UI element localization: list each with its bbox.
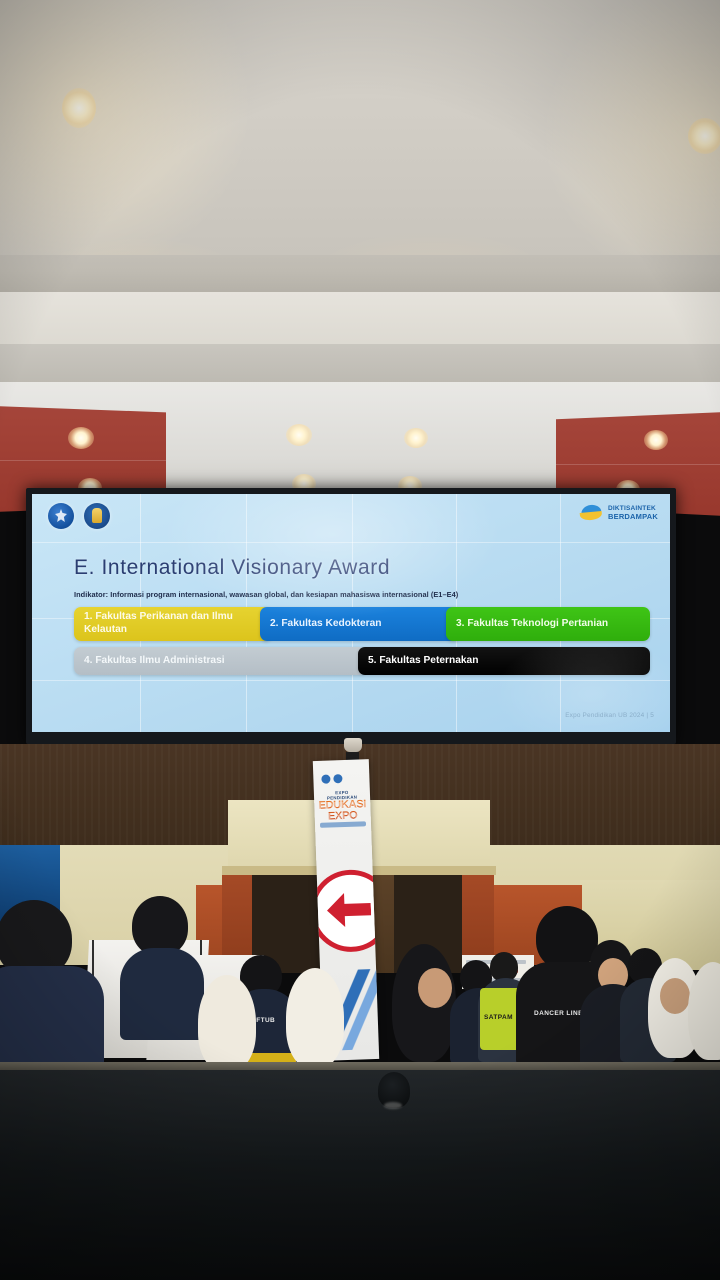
faculty-box-3: 3. Fakultas Teknologi Pertanian xyxy=(446,607,650,641)
faculty-label-5: 5. Fakultas Peternakan xyxy=(368,655,478,668)
downlight-icon xyxy=(62,88,96,128)
screen-tile-seam xyxy=(32,542,670,543)
jacket-label-satpam: SATPAM xyxy=(484,1014,513,1021)
ceiling-band-upper xyxy=(0,255,720,295)
foreground-object xyxy=(378,1072,410,1108)
jacket-label-dancer-line: DANCER LINE xyxy=(534,1010,583,1017)
foreground-silhouette xyxy=(0,1070,720,1280)
person-hijab xyxy=(198,975,256,1071)
person-head xyxy=(536,906,598,970)
slide-surface: DIKTISAINTEK BERDAMPAK E. International … xyxy=(32,494,670,732)
slide-footer: Expo Pendidikan UB 2024 | 5 xyxy=(565,712,654,719)
downlight-icon xyxy=(644,430,668,450)
faculty-box-4: 4. Fakultas Ilmu Administrasi xyxy=(74,647,366,675)
diktisaintek-logo: DIKTISAINTEK BERDAMPAK xyxy=(580,504,658,522)
faculty-label-1: 1. Fakultas Perikanan dan Ilmu Kelautan xyxy=(84,611,262,637)
left-arrow-icon xyxy=(313,868,379,953)
faculty-box-1: 1. Fakultas Perikanan dan Ilmu Kelautan xyxy=(74,607,272,641)
diktisaintek-logo-line2: BERDAMPAK xyxy=(608,513,658,521)
banner-logo-row xyxy=(321,774,342,784)
ceiling-band-lower xyxy=(0,344,720,386)
person-body xyxy=(0,966,104,1076)
person-hijab xyxy=(286,968,344,1068)
ceiling-band-middle xyxy=(0,292,720,348)
auditorium-photo: DIKTISAINTEK BERDAMPAK E. International … xyxy=(0,0,720,1280)
banner-title: EDUKASI EXPO xyxy=(317,799,368,823)
downlight-icon xyxy=(286,424,312,446)
faculty-label-3: 3. Fakultas Teknologi Pertanian xyxy=(456,618,608,631)
faculty-box-2: 2. Fakultas Kedokteran xyxy=(260,607,460,641)
person-head xyxy=(132,896,188,956)
ceiling-projector xyxy=(344,738,362,752)
slide-title: E. International Visionary Award xyxy=(74,556,390,580)
slide-indicator-text: Indikator: Informasi program internasion… xyxy=(74,590,458,599)
faculty-label-4: 4. Fakultas Ilmu Administrasi xyxy=(84,655,225,668)
faculty-box-5: 5. Fakultas Peternakan xyxy=(358,647,650,675)
ceiling-upper-slab xyxy=(0,0,720,258)
person-body xyxy=(120,948,204,1040)
universitas-brawijaya-logo-icon xyxy=(84,503,110,529)
kemdikbud-logo-icon xyxy=(48,503,74,529)
person-face xyxy=(418,968,452,1008)
downlight-icon xyxy=(404,428,428,448)
diktisaintek-bird-icon xyxy=(580,504,604,522)
banner-divider xyxy=(320,821,366,828)
downlight-icon xyxy=(68,427,94,449)
downlight-icon xyxy=(688,118,720,154)
faculty-label-2: 2. Fakultas Kedokteran xyxy=(270,618,382,631)
screen-tile-seam xyxy=(32,680,670,681)
projection-screen: DIKTISAINTEK BERDAMPAK E. International … xyxy=(26,488,676,744)
person-face xyxy=(660,978,690,1014)
